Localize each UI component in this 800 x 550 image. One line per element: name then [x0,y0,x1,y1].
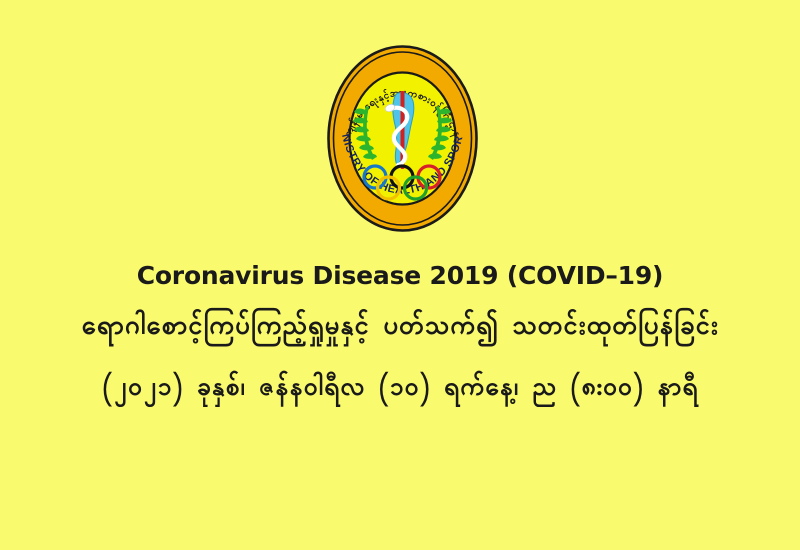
subtitle-burmese: ရောဂါစောင့်ကြပ်ကြည့်ရှုမှုနှင့် ပတ်သက်၍ … [0,313,800,344]
datetime-burmese: (၂၀၂၁) ခုနှစ်၊ ဇန်နဝါရီလ (၁၀) ရက်နေ့၊ ည … [0,374,800,404]
page-title-english: Coronavirus Disease 2019 (COVID–19) [0,262,800,291]
ministry-seal-logo: ကျန်းမာရေးနှင့်အားကစားဝန်ကြီးဌာန MINISTR… [325,43,480,234]
announcement-slide: ကျန်းမာရေးနှင့်အားကစားဝန်ကြီးဌာန MINISTR… [0,0,800,550]
ministry-seal-icon: ကျန်းမာရေးနှင့်အားကစားဝန်ကြီးဌာန MINISTR… [325,43,480,234]
announcement-text-block: Coronavirus Disease 2019 (COVID–19) ရောဂ… [0,262,800,404]
